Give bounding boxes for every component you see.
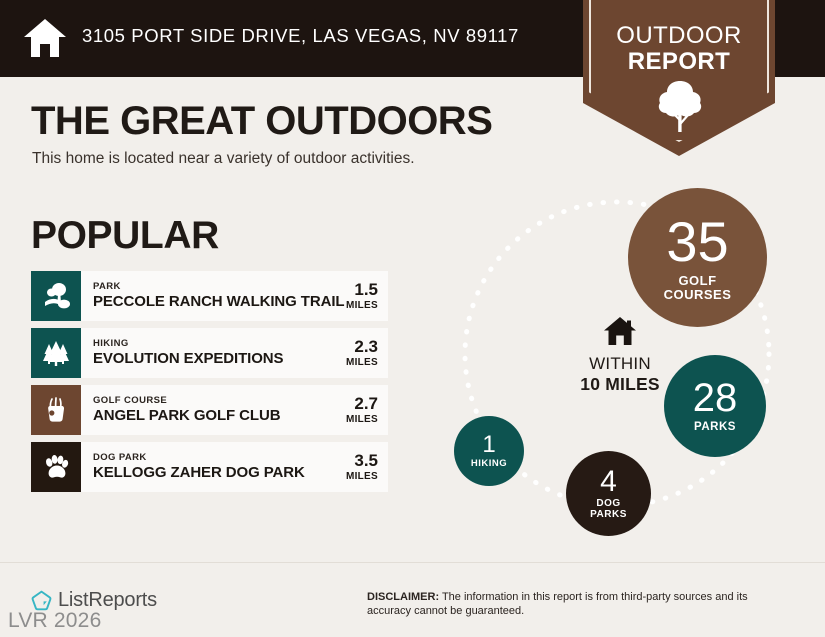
- disclaimer: DISCLAIMER: The information in this repo…: [367, 590, 792, 618]
- badge-title-line1: OUTDOOR: [583, 22, 775, 50]
- golf-bag-icon: [31, 385, 81, 435]
- page-title: THE GREAT OUTDOORS: [31, 99, 492, 144]
- list-item-distance: 1.5 MILES: [344, 271, 388, 321]
- list-item-text: HIKING EVOLUTION EXPEDITIONS: [81, 328, 310, 378]
- distance-value: 3.5: [310, 452, 378, 470]
- disclaimer-label: DISCLAIMER:: [367, 591, 439, 603]
- bubble-hiking[interactable]: 1 HIKING: [454, 416, 524, 486]
- outdoor-report-badge: OUTDOOR REPORT: [583, 0, 775, 156]
- bubble-label-line1: PARKS: [694, 421, 736, 433]
- distance-value: 1.5: [344, 281, 378, 299]
- distance-unit: MILES: [310, 413, 378, 426]
- footer-divider: [0, 562, 825, 563]
- bubble-label-line1: GOLF: [678, 274, 716, 288]
- pine-trees-icon: [31, 328, 81, 378]
- outdoor-report-infographic: 3105 PORT SIDE DRIVE, LAS VEGAS, NV 8911…: [0, 0, 825, 637]
- bubble-value: 4: [600, 467, 617, 497]
- page-subtitle: This home is located near a variety of o…: [32, 150, 415, 168]
- center-line-2: 10 MILES: [540, 374, 700, 395]
- list-item-distance: 2.7 MILES: [310, 385, 388, 435]
- list-item[interactable]: HIKING EVOLUTION EXPEDITIONS 2.3 MILES: [31, 328, 388, 378]
- bubble-dog-parks[interactable]: 4 DOG PARKS: [566, 451, 651, 536]
- list-item[interactable]: DOG PARK KELLOGG ZAHER DOG PARK 3.5 MILE…: [31, 442, 388, 492]
- center-line-1: WITHIN: [540, 354, 700, 374]
- tree-icon: [655, 80, 705, 132]
- bubble-label-line2: COURSES: [664, 288, 732, 302]
- paw-print-icon: [31, 442, 81, 492]
- list-item[interactable]: PARK PECCOLE RANCH WALKING TRAIL 1.5 MIL…: [31, 271, 388, 321]
- list-item-name: PECCOLE RANCH WALKING TRAIL: [93, 293, 344, 311]
- list-item[interactable]: GOLF COURSE ANGEL PARK GOLF CLUB 2.7 MIL…: [31, 385, 388, 435]
- list-item-text: DOG PARK KELLOGG ZAHER DOG PARK: [81, 442, 310, 492]
- distance-value: 2.3: [310, 338, 378, 356]
- chart-center-label: WITHIN 10 MILES: [540, 316, 700, 395]
- list-item-name: ANGEL PARK GOLF CLUB: [93, 407, 310, 425]
- list-item-category: PARK: [93, 281, 344, 293]
- watermark-text: LVR 2026: [8, 609, 101, 633]
- bubble-value: 35: [666, 214, 728, 270]
- bubble-value: 1: [482, 433, 495, 457]
- list-item-name: EVOLUTION EXPEDITIONS: [93, 350, 310, 368]
- bubble-label-line1: DOG: [596, 499, 620, 510]
- list-item-distance: 2.3 MILES: [310, 328, 388, 378]
- within-10-miles-bubble-chart: 35 GOLF COURSES 28 PARKS 4 DOG PARKS 1 H…: [432, 176, 822, 546]
- list-item-category: DOG PARK: [93, 452, 310, 464]
- popular-list: PARK PECCOLE RANCH WALKING TRAIL 1.5 MIL…: [31, 271, 388, 499]
- popular-heading: POPULAR: [31, 214, 219, 258]
- bubble-label-line1: HIKING: [471, 459, 507, 469]
- list-item-category: GOLF COURSE: [93, 395, 310, 407]
- home-icon: [23, 17, 67, 59]
- list-item-distance: 3.5 MILES: [310, 442, 388, 492]
- bubble-label-line2: PARKS: [590, 510, 627, 521]
- list-item-text: PARK PECCOLE RANCH WALKING TRAIL: [81, 271, 344, 321]
- distance-unit: MILES: [344, 299, 378, 312]
- badge-title-line2: REPORT: [583, 48, 775, 76]
- list-item-text: GOLF COURSE ANGEL PARK GOLF CLUB: [81, 385, 310, 435]
- list-item-name: KELLOGG ZAHER DOG PARK: [93, 464, 310, 482]
- bubble-golf-courses[interactable]: 35 GOLF COURSES: [628, 188, 767, 327]
- listreports-logo-icon: [31, 590, 52, 611]
- list-item-category: HIKING: [93, 338, 310, 350]
- distance-unit: MILES: [310, 470, 378, 483]
- distance-value: 2.7: [310, 395, 378, 413]
- park-tree-icon: [31, 271, 81, 321]
- home-icon: [603, 316, 637, 346]
- property-address: 3105 PORT SIDE DRIVE, LAS VEGAS, NV 8911…: [82, 25, 519, 47]
- distance-unit: MILES: [310, 356, 378, 369]
